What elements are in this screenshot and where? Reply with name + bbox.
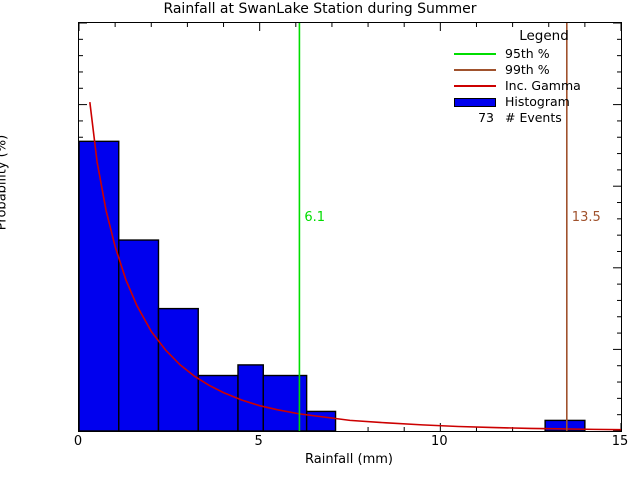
legend-line-swatch — [454, 85, 496, 87]
legend: Legend 95th %99th %Inc. GammaHistogram73… — [452, 28, 612, 126]
legend-entry: Histogram — [452, 94, 612, 109]
x-tick-label: 5 — [239, 434, 279, 449]
legend-line-icon — [452, 47, 498, 61]
x-tick-label: 15 — [600, 434, 640, 449]
legend-line-icon — [452, 63, 498, 77]
percentile-value-label: 6.1 — [304, 210, 325, 225]
histogram-bars — [79, 141, 585, 431]
legend-entry-label: 99th % — [505, 62, 550, 77]
legend-entry: 99th % — [452, 62, 612, 77]
histogram-bar — [307, 411, 336, 431]
x-tick-label: 0 — [58, 434, 98, 449]
event-count-text: 73 — [452, 111, 494, 125]
legend-fill-swatch — [454, 98, 496, 107]
legend-line-swatch — [454, 53, 496, 55]
legend-entry-label: 95th % — [505, 46, 550, 61]
legend-entries: 95th %99th %Inc. GammaHistogram73# Event… — [452, 46, 612, 125]
legend-line-swatch — [454, 69, 496, 71]
legend-entry: Inc. Gamma — [452, 78, 612, 93]
histogram-bar — [119, 240, 159, 431]
legend-entry: 73# Events — [452, 110, 612, 125]
y-axis-label: Probability (%) — [0, 103, 10, 263]
legend-entry-label: Inc. Gamma — [505, 78, 581, 93]
histogram-bar — [79, 141, 119, 431]
legend-color-swatch-icon — [452, 95, 498, 109]
legend-count-value: 73 — [452, 111, 498, 125]
legend-line-icon — [452, 79, 498, 93]
histogram-bar — [198, 376, 238, 431]
legend-entry: 95th % — [452, 46, 612, 61]
legend-entry-label: Histogram — [505, 94, 570, 109]
legend-entry-label: # Events — [505, 110, 562, 125]
x-tick-label: 10 — [419, 434, 459, 449]
legend-title: Legend — [452, 28, 612, 44]
histogram-bar — [238, 365, 263, 431]
percentile-value-label: 13.5 — [572, 210, 601, 225]
x-axis-label: Rainfall (mm) — [78, 452, 620, 467]
chart-root: Rainfall at SwanLake Station during Summ… — [0, 0, 640, 480]
chart-title: Rainfall at SwanLake Station during Summ… — [0, 1, 640, 17]
histogram-bar — [158, 309, 198, 431]
